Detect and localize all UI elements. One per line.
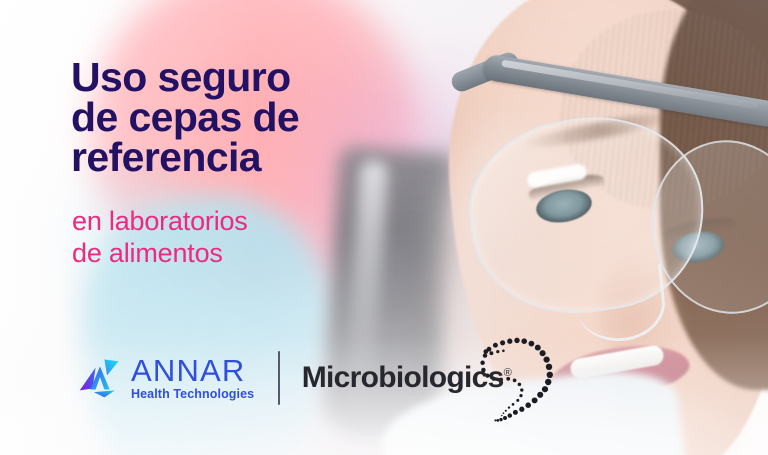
subheadline-line-1: en laboratorios xyxy=(72,206,402,238)
registered-trademark-symbol: ® xyxy=(504,367,511,379)
microbiologics-name: Microbiologics xyxy=(302,361,504,394)
subheadline-line-2: de alimentos xyxy=(72,238,402,270)
annar-tagline: Health Technologies xyxy=(131,388,254,401)
logo-divider xyxy=(278,351,280,405)
annar-name: ANNAR xyxy=(131,355,254,386)
logo-lockup: ANNAR Health Technologies Microbiologics… xyxy=(78,330,561,426)
headline-line-1: Uso seguro xyxy=(71,57,401,97)
headline-line-2: de cepas de xyxy=(71,97,401,137)
microbiologics-logo[interactable]: Microbiologics® xyxy=(302,330,561,426)
headline: Uso seguro de cepas de referencia xyxy=(71,57,401,178)
banner-content: Uso seguro de cepas de referencia en lab… xyxy=(0,0,768,455)
microbiologics-wordmark: Microbiologics® xyxy=(302,361,511,395)
annar-triangle-a-icon xyxy=(78,356,122,400)
subheadline: en laboratorios de alimentos xyxy=(72,206,402,270)
promo-banner: Uso seguro de cepas de referencia en lab… xyxy=(0,0,768,455)
annar-logo[interactable]: ANNAR Health Technologies xyxy=(78,355,254,401)
headline-line-3: referencia xyxy=(71,137,401,177)
annar-wordmark: ANNAR Health Technologies xyxy=(131,355,254,401)
